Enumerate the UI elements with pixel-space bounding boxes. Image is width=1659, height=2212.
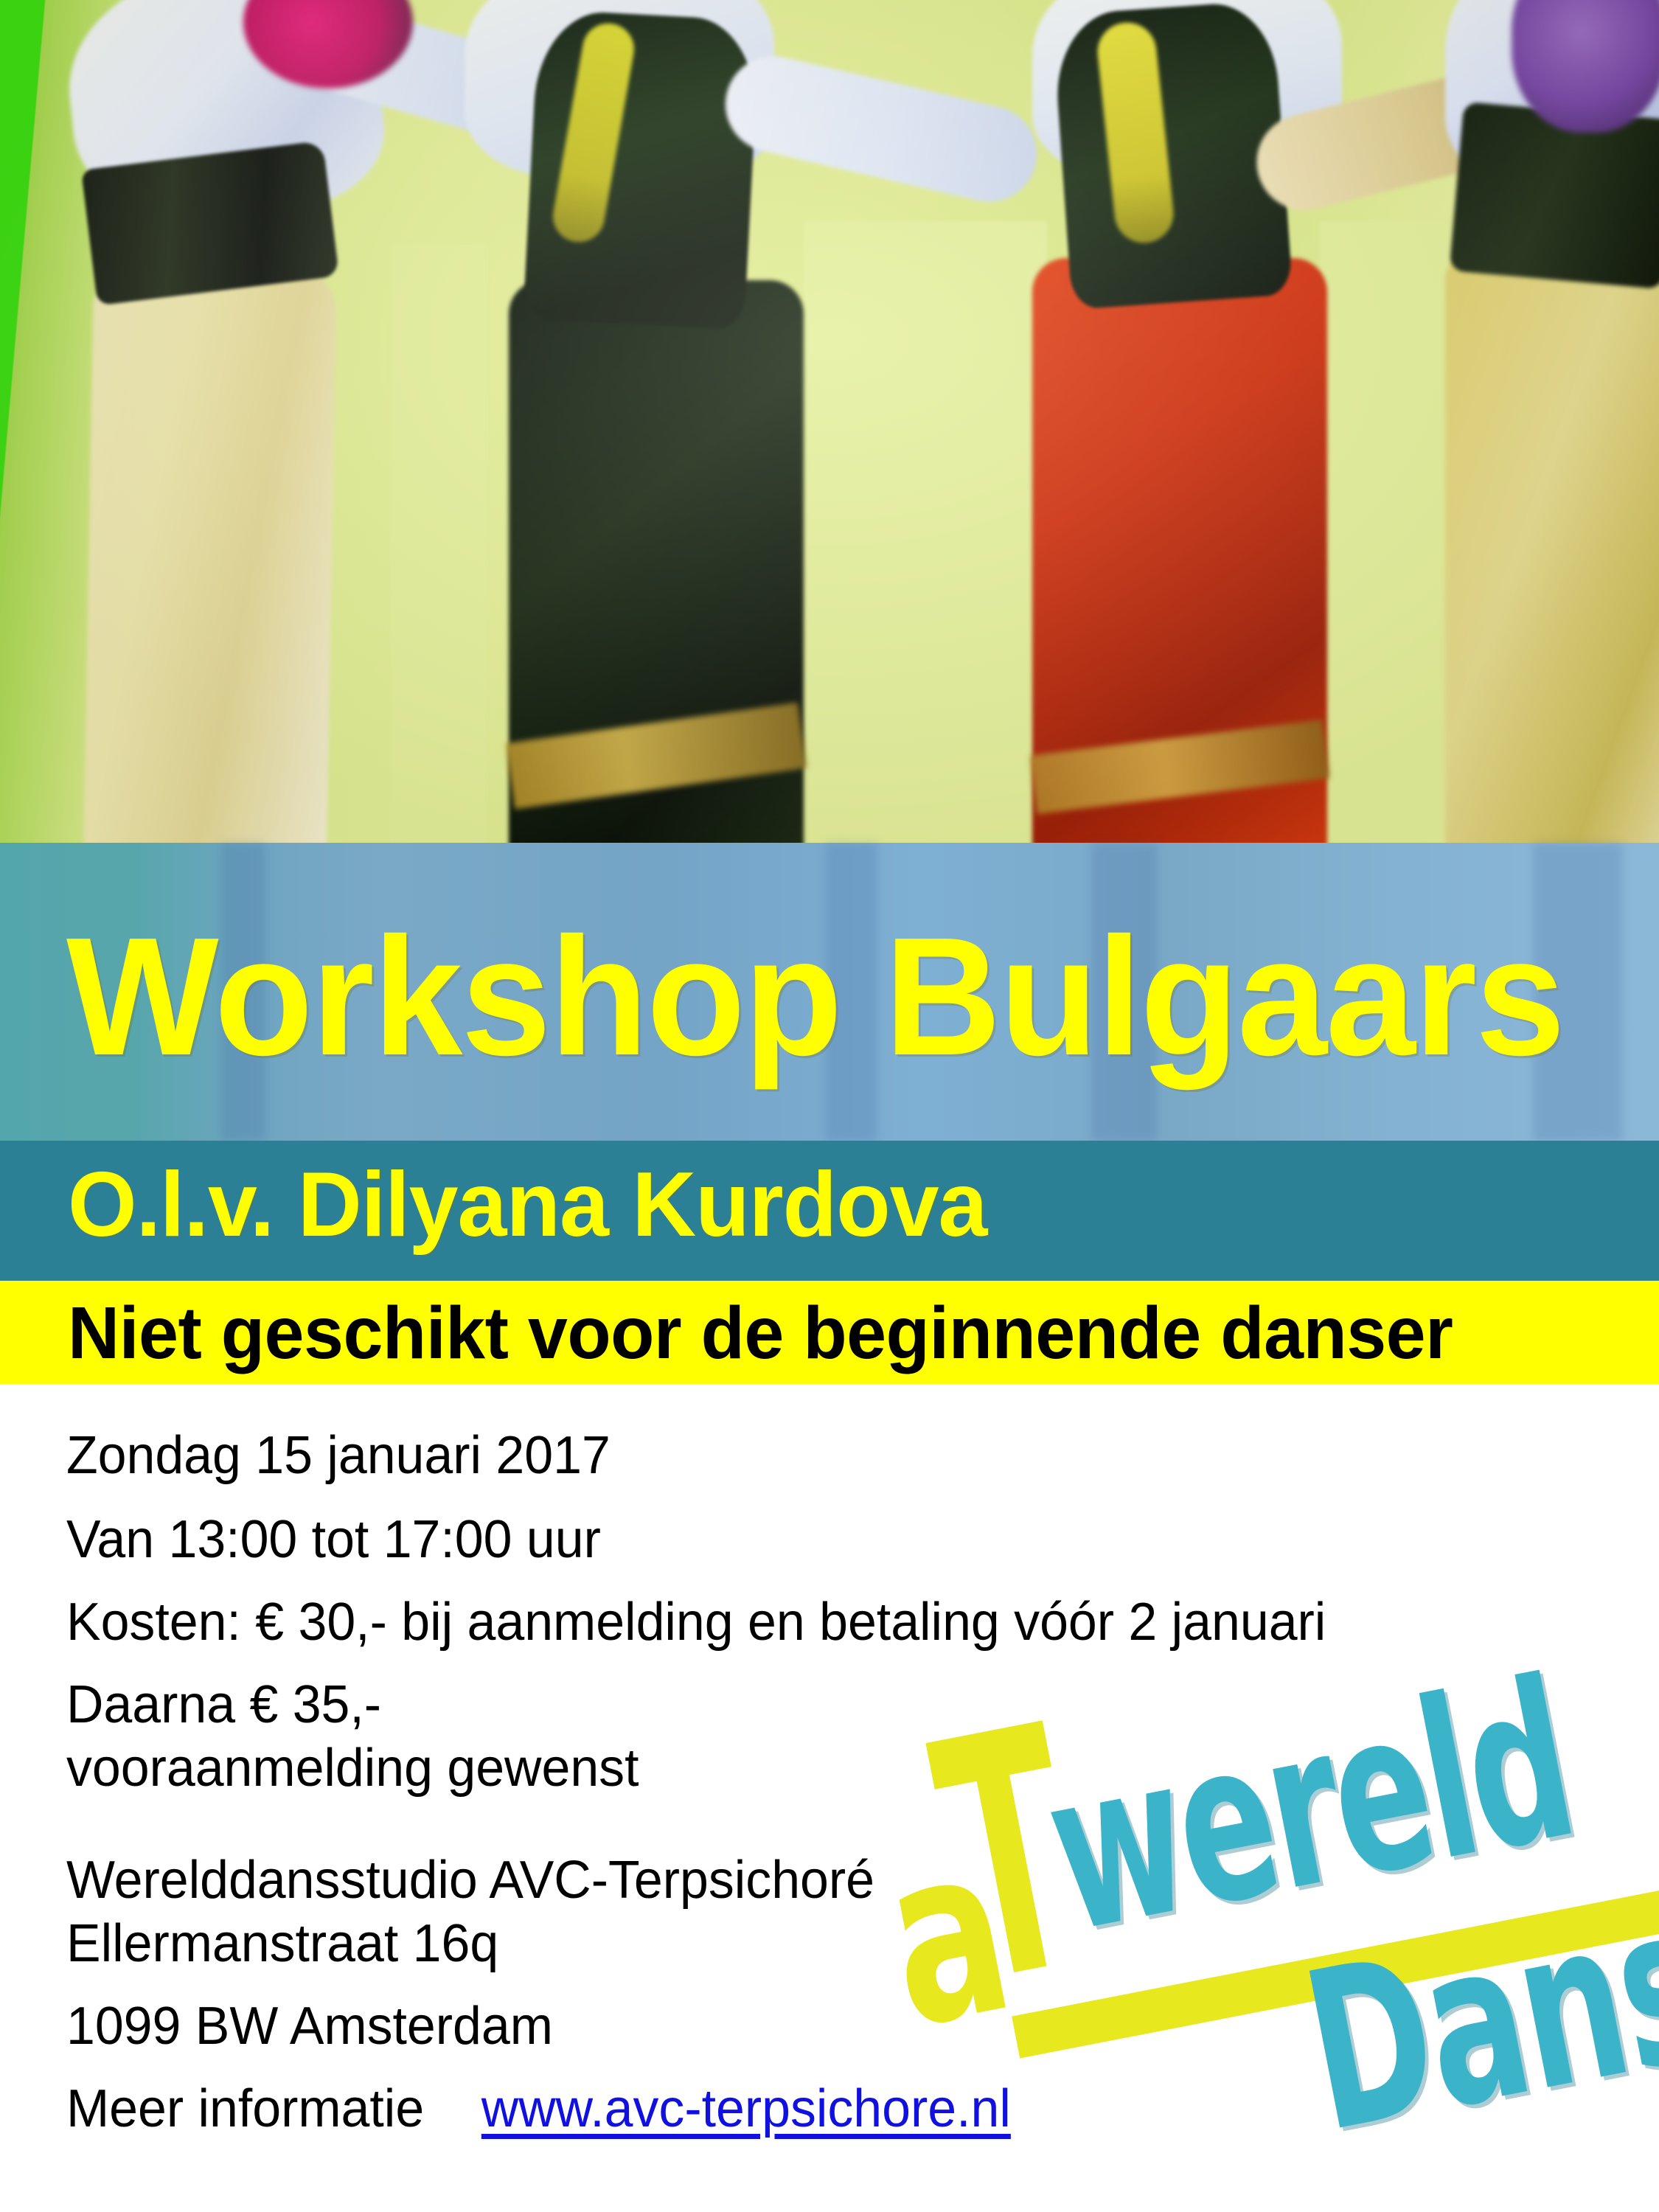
detail-date: Zondag 15 januari 2017 bbox=[66, 1429, 1483, 1482]
photo-vignette bbox=[0, 0, 1659, 848]
dancers-photo bbox=[0, 0, 1659, 848]
detail-time: Van 13:00 tot 17:00 uur bbox=[66, 1513, 1483, 1566]
warning-text: Niet geschikt voor de beginnende danser bbox=[68, 1296, 1453, 1370]
subtitle-instructor: O.l.v. Dilyana Kurdova bbox=[68, 1159, 987, 1251]
logo-word-dans: Dans bbox=[1294, 1885, 1659, 2154]
more-info-label: Meer informatie bbox=[66, 2079, 424, 2138]
poster-canvas: Workshop Bulgaars O.l.v. Dilyana Kurdova… bbox=[0, 0, 1659, 2212]
logo-at-werelddans: a T wereld Dans bbox=[874, 1641, 1641, 2112]
page-title: Workshop Bulgaars bbox=[66, 913, 1531, 1081]
